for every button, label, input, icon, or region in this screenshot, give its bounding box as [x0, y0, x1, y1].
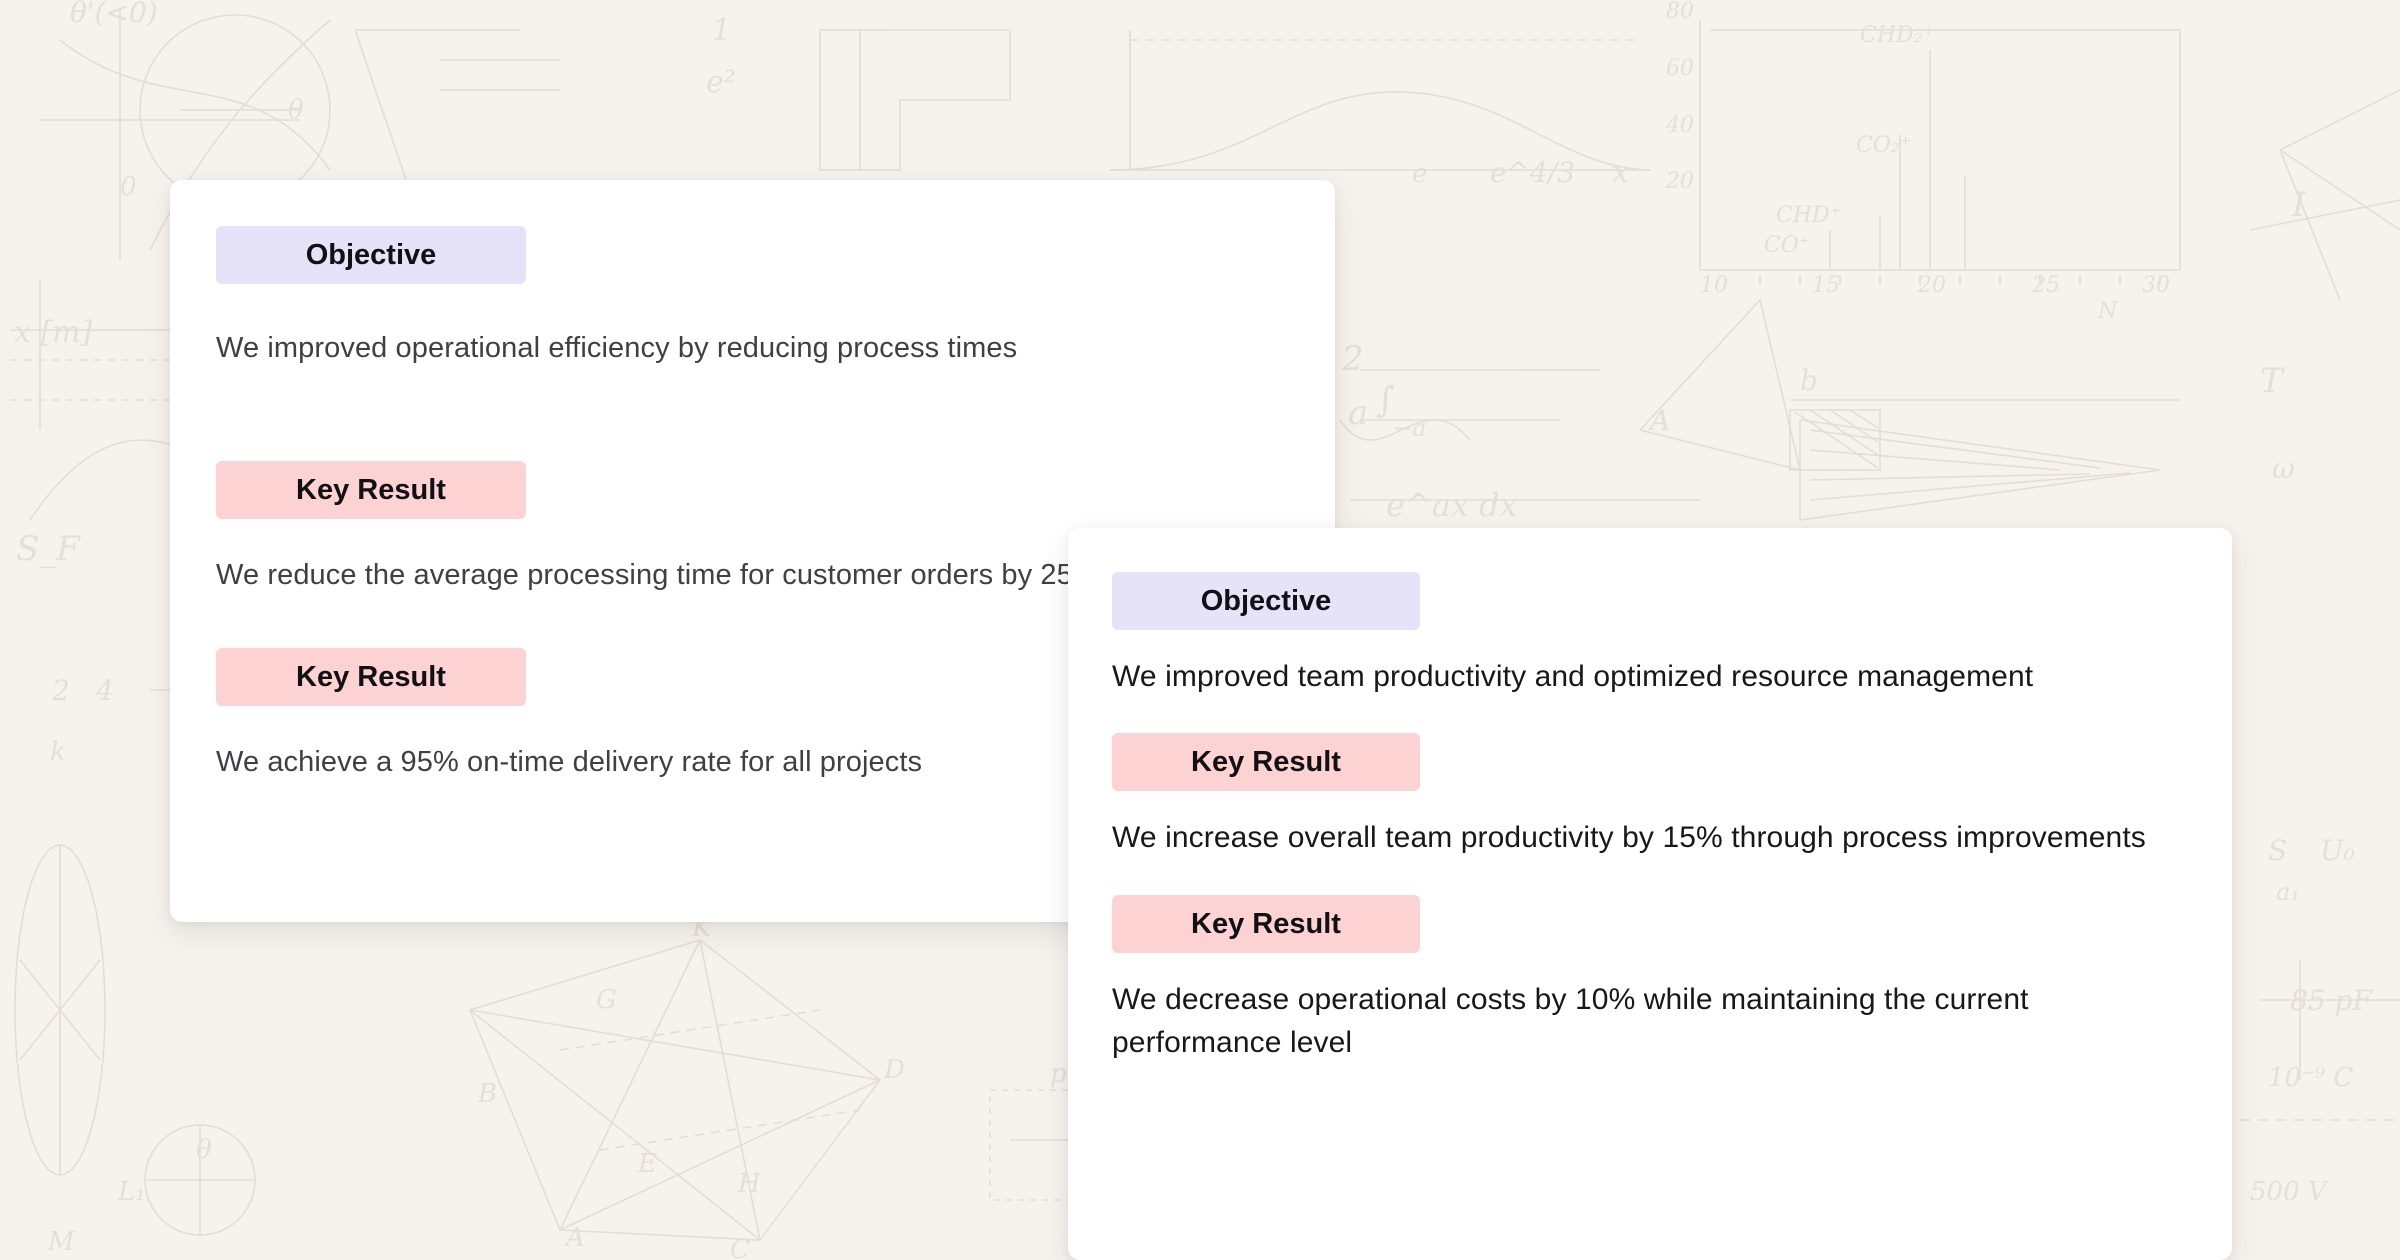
svg-text:U₀: U₀ [2320, 834, 2355, 867]
svg-text:G: G [596, 985, 617, 1015]
svg-text:θ'(<0): θ'(<0) [70, 0, 158, 29]
svg-text:20: 20 [1917, 273, 1946, 298]
svg-text:θ: θ [288, 95, 304, 125]
svg-text:e²: e² [706, 65, 736, 100]
svg-text:1: 1 [712, 13, 731, 48]
okr-card-objective-productivity[interactable]: Objective We improved team productivity … [1068, 528, 2232, 1260]
svg-text:E: E [637, 1149, 657, 1179]
svg-text:2: 2 [1341, 339, 1364, 379]
svg-text:L₁: L₁ [117, 1177, 146, 1207]
objective-text: We improved operational efficiency by re… [216, 328, 1275, 369]
svg-text:0: 0 [120, 172, 137, 202]
svg-text:I: I [2291, 185, 2306, 225]
spacer [1112, 699, 2176, 733]
svg-text:500 V: 500 V [2250, 1177, 2329, 1207]
objective-badge: Objective [1112, 572, 1420, 630]
svg-text:b: b [1800, 364, 1818, 397]
svg-text:80: 80 [1666, 0, 1694, 24]
key-result-badge: Key Result [216, 648, 526, 706]
svg-text:CO₂⁺: CO₂⁺ [1856, 133, 1911, 158]
svg-text:25: 25 [2031, 273, 2060, 298]
svg-text:k: k [50, 737, 66, 767]
svg-text:D: D [883, 1055, 905, 1085]
svg-text:S_F: S_F [16, 529, 81, 569]
svg-text:2: 2 [51, 674, 70, 707]
svg-text:85 pF: 85 pF [2290, 984, 2373, 1017]
svg-text:10: 10 [1700, 273, 1728, 298]
spacer [1112, 791, 2176, 817]
svg-text:C: C [730, 1235, 750, 1260]
svg-text:a: a [1348, 393, 1368, 433]
svg-text:B: B [477, 1079, 497, 1109]
svg-text:30: 30 [2142, 273, 2170, 298]
key-result-badge: Key Result [216, 461, 526, 519]
objective-badge: Objective [216, 226, 526, 284]
svg-text:T: T [2260, 361, 2285, 401]
svg-text:20: 20 [1665, 169, 1694, 194]
svg-text:a₁: a₁ [2276, 878, 2300, 906]
svg-text:CO⁺: CO⁺ [1764, 233, 1810, 258]
svg-text:15: 15 [1812, 273, 1840, 298]
objective-text: We improved team productivity and optimi… [1112, 656, 2176, 699]
svg-text:ω: ω [2272, 452, 2295, 485]
key-result-badge: Key Result [1112, 895, 1420, 953]
svg-text:e^4/3: e^4/3 [1490, 156, 1575, 189]
svg-text:40: 40 [1665, 113, 1694, 138]
svg-text:10⁻⁹ C: 10⁻⁹ C [2268, 1063, 2353, 1093]
key-result-text: We increase overall team productivity by… [1112, 817, 2176, 860]
svg-text:p: p [1050, 1059, 1067, 1089]
svg-text:CHD⁺: CHD⁺ [1776, 203, 1841, 228]
svg-text:60: 60 [1666, 56, 1694, 81]
svg-text:S: S [2268, 834, 2287, 867]
spacer [216, 369, 1275, 461]
svg-text:N: N [2097, 299, 2118, 324]
key-result-text: We decrease operational costs by 10% whi… [1112, 979, 2176, 1064]
svg-text:x [m]: x [m] [14, 315, 93, 350]
svg-text:θ: θ [196, 1135, 212, 1165]
spacer [1112, 859, 2176, 895]
svg-text:A: A [564, 1223, 585, 1253]
svg-text:e^ax dx: e^ax dx [1386, 486, 1518, 524]
svg-text:e: e [1412, 159, 1427, 189]
svg-text:M: M [47, 1227, 76, 1257]
spacer [1112, 953, 2176, 979]
svg-text:−a: −a [1392, 414, 1426, 442]
spacer [1112, 630, 2176, 656]
svg-text:x: x [1612, 155, 1629, 190]
svg-text:4: 4 [95, 674, 114, 707]
svg-text:A: A [1647, 404, 1670, 437]
key-result-badge: Key Result [1112, 733, 1420, 791]
spacer [216, 284, 1275, 328]
svg-text:H: H [737, 1169, 762, 1199]
svg-text:CHD₂⁺: CHD₂⁺ [1860, 23, 1934, 48]
